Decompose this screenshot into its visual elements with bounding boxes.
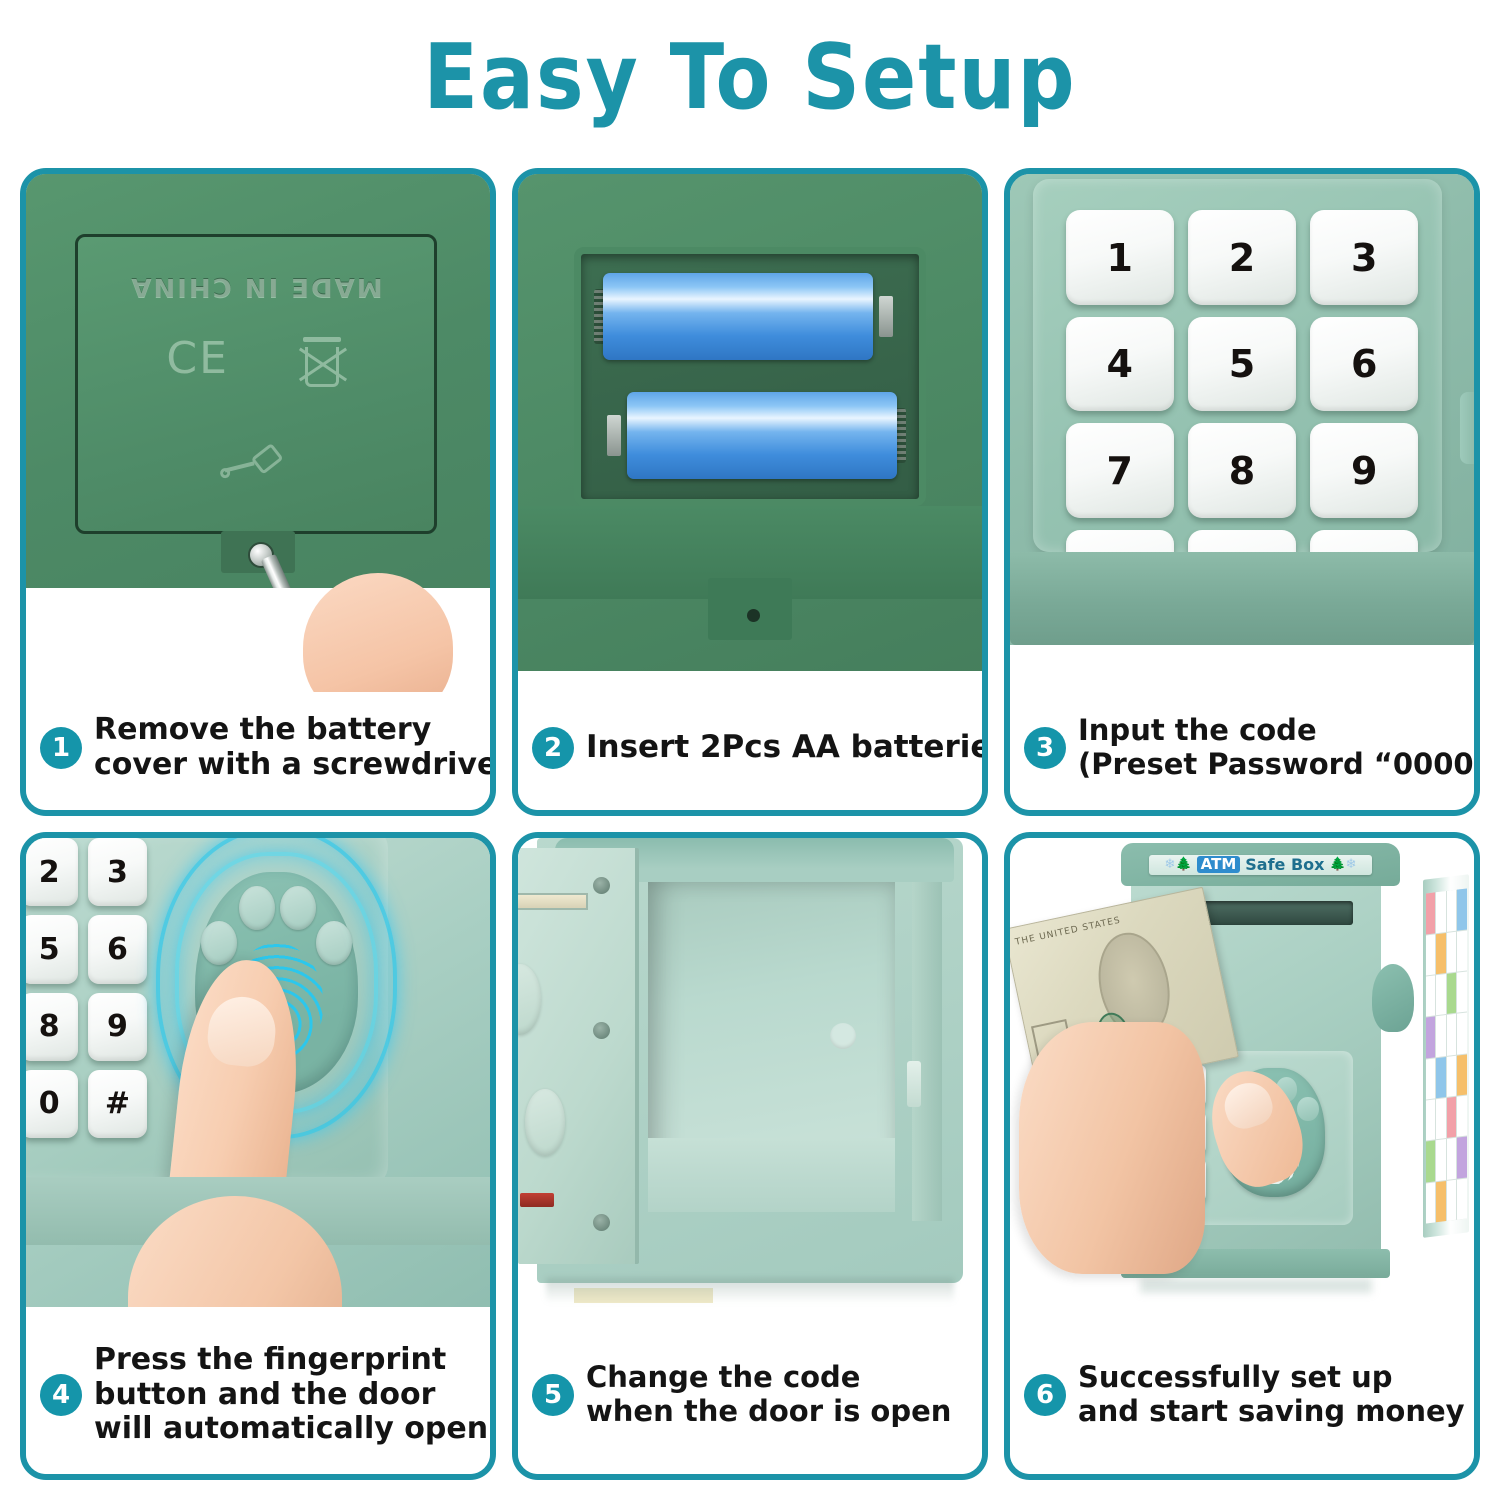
fingernail (205, 994, 279, 1070)
step-3-text: Input the code (Preset Password “0000”) (1078, 714, 1480, 781)
photo-bottom-fade (1010, 645, 1474, 692)
step-card-5: 5 Change the code when the door is open (512, 832, 988, 1480)
step-2-text: Insert 2Pcs AA batteries (586, 730, 988, 766)
caption-line: Successfully set up (1078, 1361, 1465, 1395)
interior-boss (830, 1023, 856, 1049)
bill-slot-inner (518, 893, 588, 910)
keypad-key-9[interactable]: 9 (1310, 423, 1418, 518)
tree-icon: 🌲❄ (1329, 858, 1356, 871)
keypad-key-1[interactable]: 1 (1066, 210, 1174, 305)
keypad-key-8[interactable]: 8 (26, 993, 78, 1061)
step-card-4: 2 3 5 6 8 9 0 # (20, 832, 496, 1480)
step-3-image: 1 2 3 4 5 6 7 8 9 * 0 # (1010, 174, 1474, 692)
keypad-key-7[interactable]: 7 (1066, 423, 1174, 518)
keypad-key-4[interactable]: 4 (1066, 317, 1174, 412)
step-badge-6: 6 (1024, 1374, 1066, 1416)
paw-toe-icon (1297, 1097, 1318, 1121)
ce-mark-icon: CE (166, 337, 229, 393)
caption-line: will automatically open (94, 1412, 488, 1447)
photo-bottom-fade (518, 671, 982, 692)
screwdriver-symbol-icon (213, 426, 298, 511)
step-2-caption: 2 Insert 2Pcs AA batteries (518, 692, 982, 810)
page-title-text: Easy To Setup (423, 33, 1076, 123)
caption-line: Input the code (1078, 714, 1480, 748)
door-screw (593, 877, 610, 894)
compliance-marks: CE (78, 337, 434, 393)
hand (1019, 1022, 1205, 1274)
safe-interior (648, 874, 896, 1212)
step-1-caption: 1 Remove the battery cover with a screwd… (26, 692, 490, 810)
step-6-caption: 6 Successfully set up and start saving m… (1010, 1322, 1474, 1474)
step-1-text: Remove the battery cover with a screwdri… (94, 713, 496, 783)
safe-base (1010, 552, 1474, 645)
caption-line: Change the code (586, 1361, 951, 1395)
atm-safe-box-lid: ❄🌲 ATM Safe Box 🌲❄ (1121, 843, 1399, 887)
keypad-key-9[interactable]: 9 (88, 993, 146, 1061)
photo-bottom-fade (26, 1307, 490, 1322)
step-card-2: 2 Insert 2Pcs AA batteries (512, 168, 988, 816)
door-screw (593, 1214, 610, 1231)
side-dial-knob[interactable] (1372, 964, 1414, 1032)
step-3-caption: 3 Input the code (Preset Password “0000”… (1010, 692, 1474, 810)
safe-box-text: Safe Box (1245, 857, 1324, 873)
step-badge-1: 1 (40, 727, 82, 769)
step-1-image: MADE IN CHINA CE (26, 174, 490, 692)
step-badge-4: 4 (40, 1374, 82, 1416)
step-badge-2: 2 (532, 727, 574, 769)
keypad-key-3[interactable]: 3 (88, 838, 146, 906)
step-6-text: Successfully set up and start saving mon… (1078, 1361, 1465, 1428)
caption-line: (Preset Password “0000”) (1078, 748, 1480, 782)
thumbnail (1219, 1077, 1277, 1133)
interior-floor (648, 1138, 896, 1212)
keypad-key-0[interactable]: 0 (26, 1070, 78, 1138)
battery-slot (591, 385, 910, 487)
infographic-page: Easy To Setup MADE IN CHINA CE (0, 0, 1500, 1500)
keypad-key-2[interactable]: 2 (26, 838, 78, 906)
caption-line: and start saving money (1078, 1395, 1465, 1429)
aa-battery (603, 273, 872, 360)
bill-text: THE UNITED STATES (1015, 916, 1122, 948)
step-badge-5: 5 (532, 1374, 574, 1416)
open-door-inner-panel (518, 848, 639, 1264)
step-card-3: 1 2 3 4 5 6 7 8 9 * 0 # 3 (1004, 168, 1480, 816)
calendar-sticker (1423, 874, 1469, 1238)
page-title: Easy To Setup (0, 0, 1500, 150)
step-card-6: ❄🌲 ATM Safe Box 🌲❄ 6 9 # (1004, 832, 1480, 1480)
product-name-label: ❄🌲 ATM Safe Box 🌲❄ (1149, 855, 1372, 875)
caption-line: Remove the battery (94, 713, 496, 748)
snowflake-icon: ❄🌲 (1165, 858, 1192, 871)
atm-badge: ATM (1197, 856, 1241, 873)
door-latch (907, 1061, 921, 1107)
battery-slot (591, 266, 910, 368)
keypad-partial: 2 3 5 6 8 9 0 # (26, 838, 147, 1138)
steps-grid: MADE IN CHINA CE (20, 168, 1480, 1480)
made-in-china-text: MADE IN CHINA (78, 272, 434, 302)
battery-terminal (607, 415, 621, 456)
door-screw (593, 1022, 610, 1039)
keypad-key-5[interactable]: 5 (26, 915, 78, 983)
step-4-text: Press the fingerprint button and the doo… (94, 1343, 488, 1447)
calendar-grid (1426, 889, 1467, 1224)
step-4-image: 2 3 5 6 8 9 0 # (26, 838, 490, 1322)
step-5-image (518, 838, 982, 1322)
drop-shadow (1140, 1278, 1372, 1293)
step-badge-3: 3 (1024, 727, 1066, 769)
keypad-key-6[interactable]: 6 (1310, 317, 1418, 412)
screw-hole (747, 609, 760, 622)
keypad-key-5[interactable]: 5 (1188, 317, 1296, 412)
caption-line: cover with a screwdriver (94, 748, 496, 783)
caption-line: when the door is open (586, 1395, 951, 1429)
battery-terminal (879, 296, 893, 337)
battery-compartment (574, 247, 927, 506)
step-card-1: MADE IN CHINA CE (20, 168, 496, 816)
keypad-key-6[interactable]: 6 (88, 915, 146, 983)
aa-battery (627, 392, 896, 479)
weee-bin-icon (299, 337, 345, 393)
step-2-image (518, 174, 982, 692)
side-knob (1460, 392, 1474, 465)
keypad-key-2[interactable]: 2 (1188, 210, 1296, 305)
caption-line: Press the fingerprint (94, 1343, 488, 1378)
safe-right-wall (912, 874, 942, 1221)
keypad-key-hash[interactable]: # (88, 1070, 146, 1138)
drop-shadow (546, 1278, 954, 1302)
door-knob-large (518, 964, 541, 1035)
door-knob-small (525, 1089, 565, 1156)
battery-cover: MADE IN CHINA CE (75, 234, 437, 534)
keypad-key-3[interactable]: 3 (1310, 210, 1418, 305)
reset-switch[interactable] (520, 1193, 554, 1207)
step-5-text: Change the code when the door is open (586, 1361, 951, 1428)
caption-line: Insert 2Pcs AA batteries (586, 730, 988, 766)
keypad-key-8[interactable]: 8 (1188, 423, 1296, 518)
step-5-caption: 5 Change the code when the door is open (518, 1322, 982, 1474)
step-6-image: ❄🌲 ATM Safe Box 🌲❄ 6 9 # (1010, 838, 1474, 1322)
step-4-caption: 4 Press the fingerprint button and the d… (26, 1322, 490, 1474)
caption-line: button and the door (94, 1378, 488, 1413)
